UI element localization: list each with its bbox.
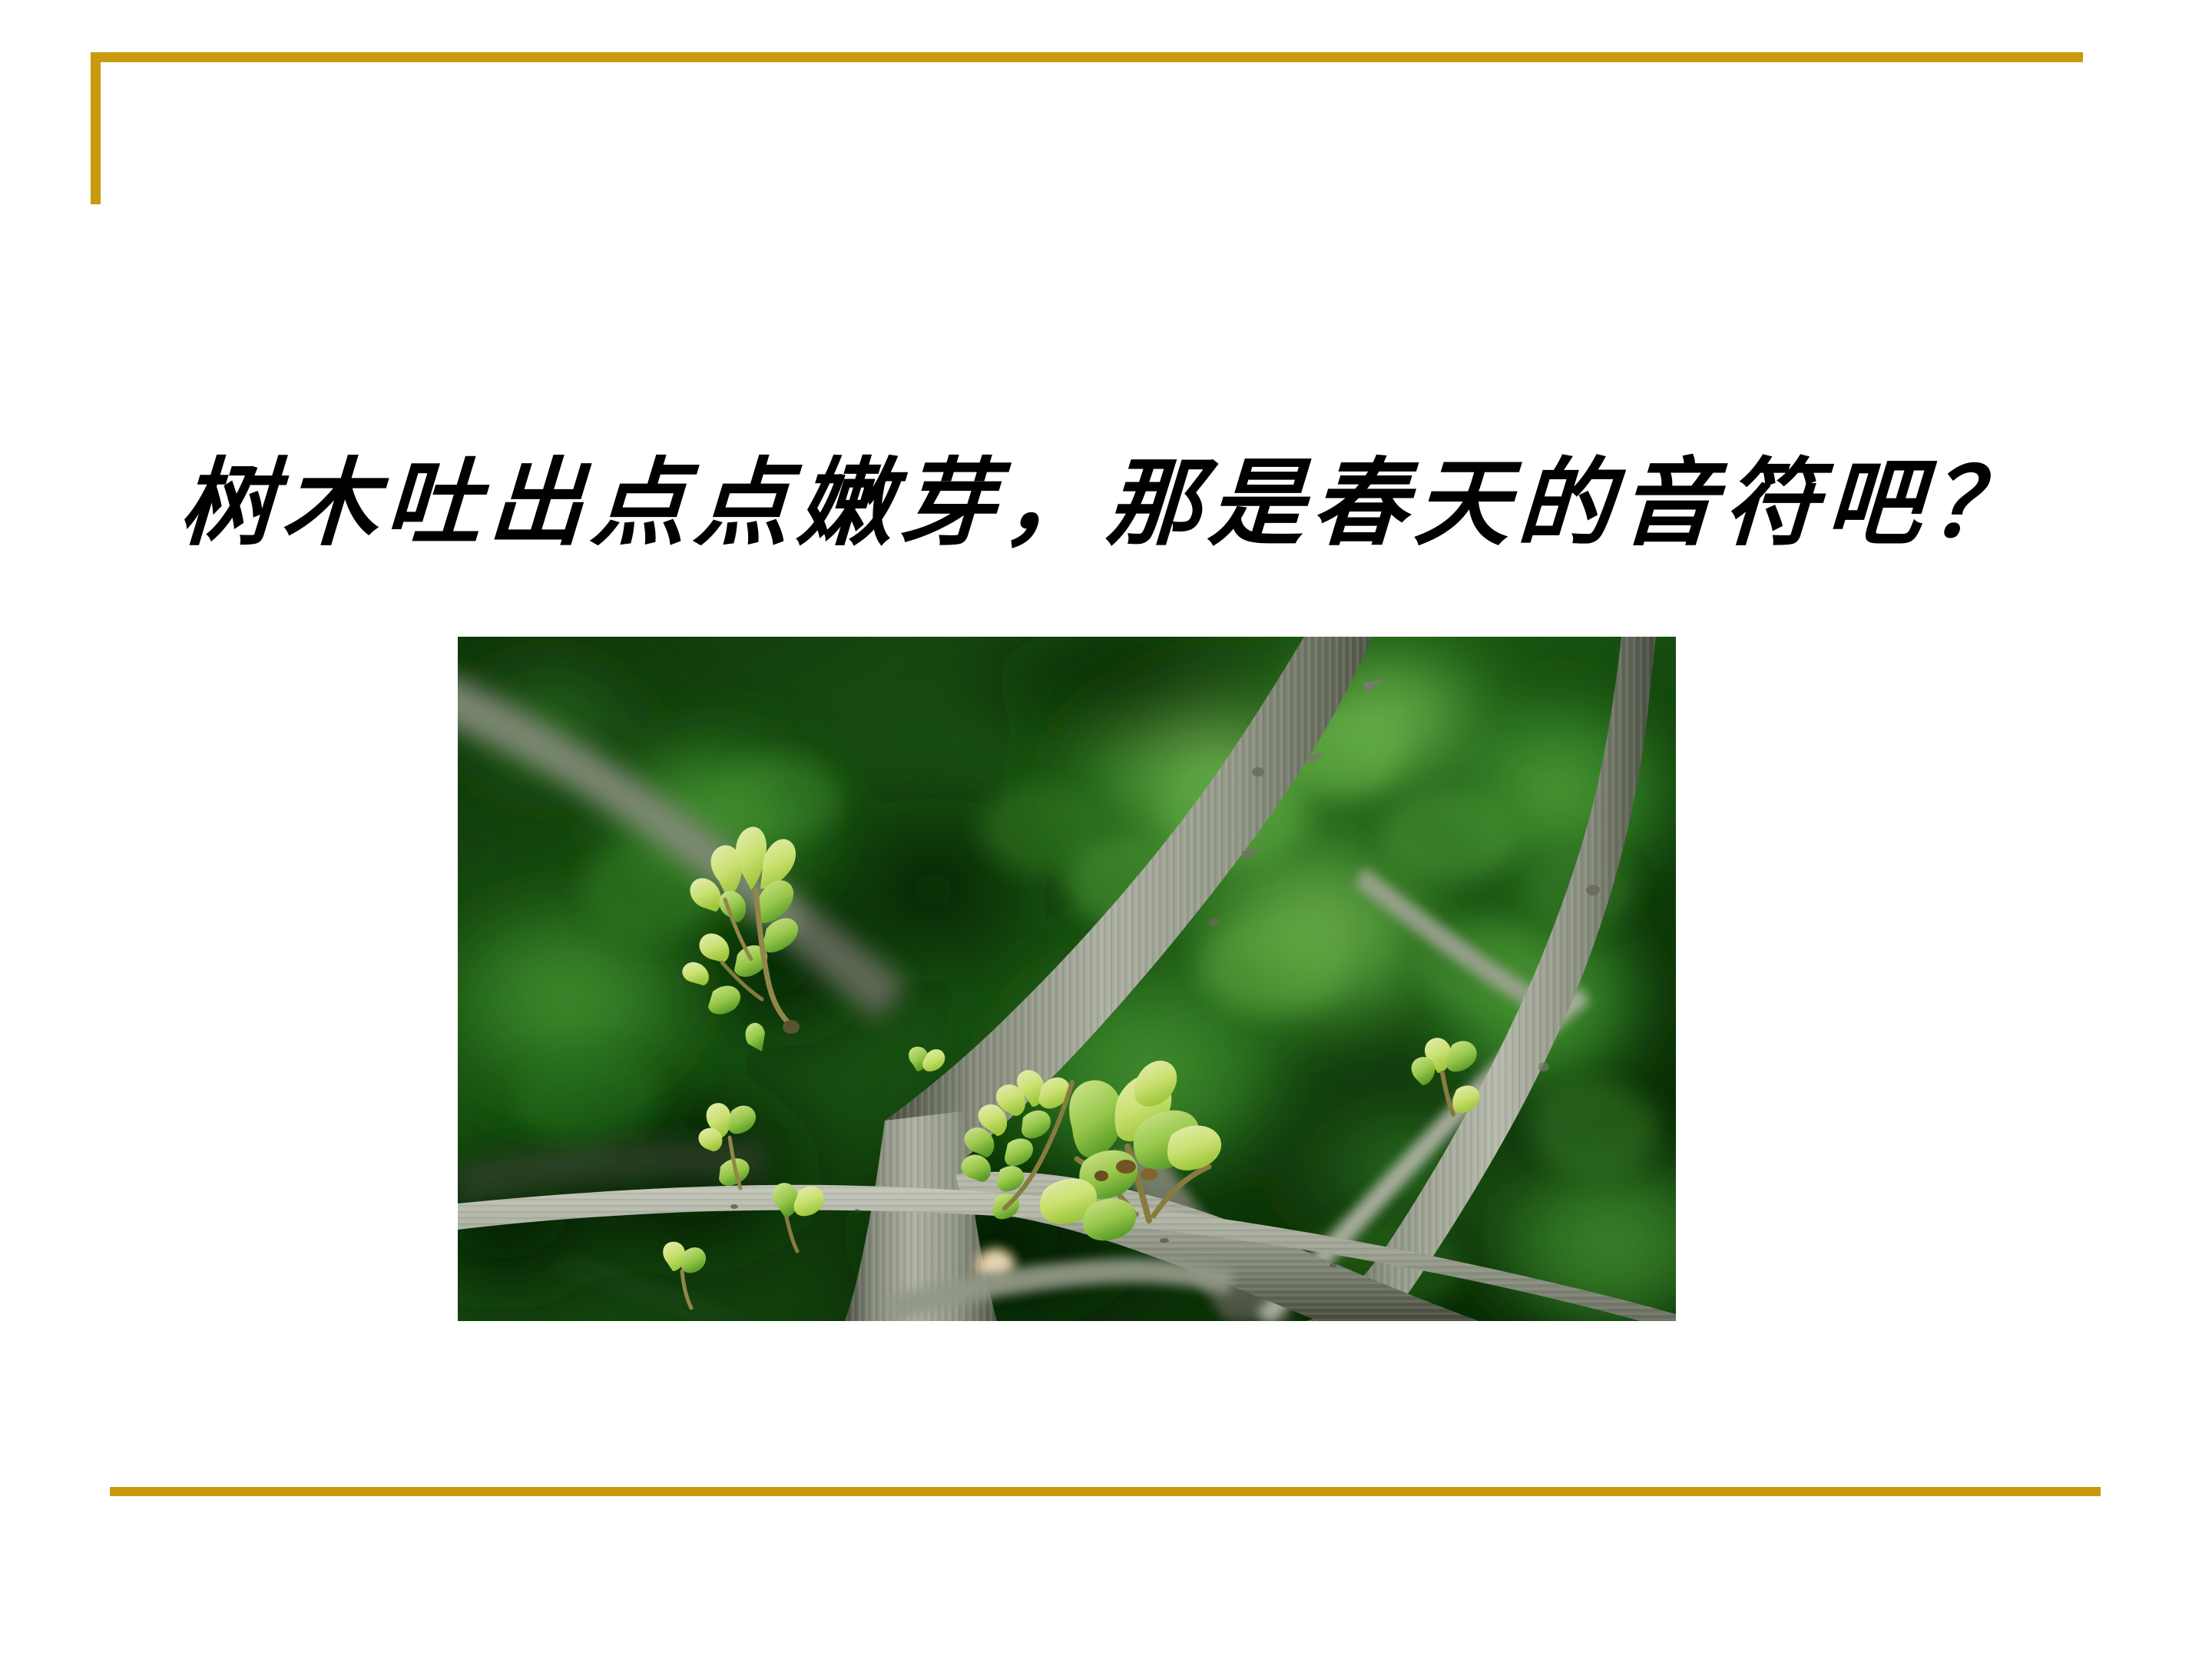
gold-bottom-rule	[110, 1487, 2101, 1496]
spring-buds-illustration	[458, 637, 1676, 1321]
spring-buds-photo	[458, 637, 1676, 1321]
slide-title: 树木吐出点点嫩芽，那是春天的音符吧？	[0, 452, 2212, 558]
presentation-slide: 树木吐出点点嫩芽，那是春天的音符吧？	[0, 0, 2212, 1659]
gold-corner-horizontal-bar	[91, 52, 2083, 62]
gold-corner-rule	[91, 52, 2083, 204]
gold-corner-vertical-bar	[91, 52, 101, 204]
